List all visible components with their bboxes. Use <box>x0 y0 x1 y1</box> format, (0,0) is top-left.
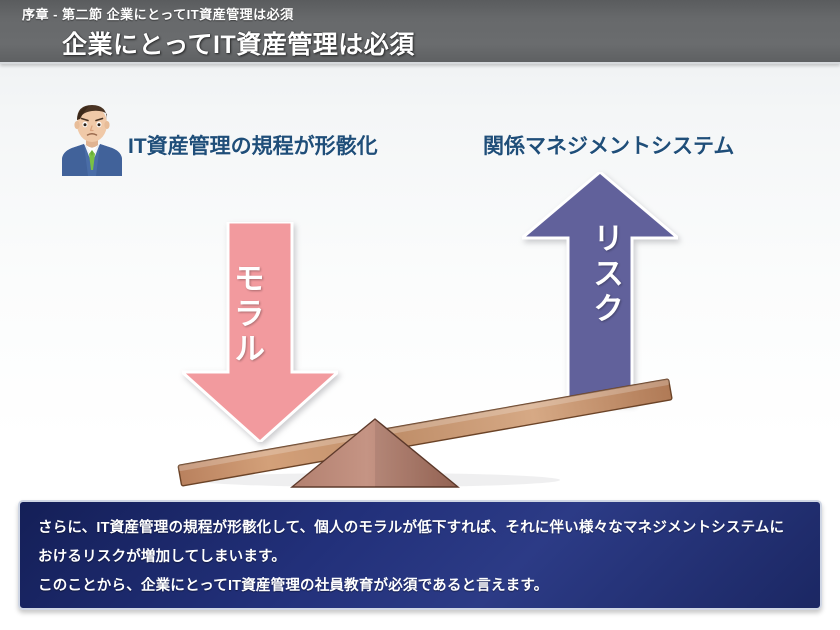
worried-businessman-icon <box>56 98 128 176</box>
summary-note-box: さらに、IT資産管理の規程が形骸化して、個人のモラルが低下すれば、それに伴い様々… <box>18 500 822 610</box>
heading-management-system: 関係マネジメントシステム <box>483 130 734 160</box>
page-title: 企業にとってIT資産管理は必須 <box>62 25 415 61</box>
presentation-slide: 序章 - 第二節 企業にとってIT資産管理は必須 企業にとってIT資産管理は必須 <box>0 0 840 630</box>
heading-moral-decline: IT資産管理の規程が形骸化 <box>128 130 378 160</box>
note-line: おけるリスクが増加してしまいます。 <box>38 543 802 572</box>
arrow-down-label: モラル <box>224 262 269 367</box>
note-line: このことから、企業にとってIT資産管理の社員教育が必須であると言えます。 <box>38 572 802 601</box>
seesaw-balance-icon <box>170 370 680 495</box>
breadcrumb: 序章 - 第二節 企業にとってIT資産管理は必須 <box>22 4 294 23</box>
slide-header-band: 序章 - 第二節 企業にとってIT資産管理は必須 企業にとってIT資産管理は必須 <box>0 0 840 64</box>
note-line: さらに、IT資産管理の規程が形骸化して、個人のモラルが低下すれば、それに伴い様々… <box>38 514 802 543</box>
arrow-up-label: リスク <box>583 222 628 327</box>
